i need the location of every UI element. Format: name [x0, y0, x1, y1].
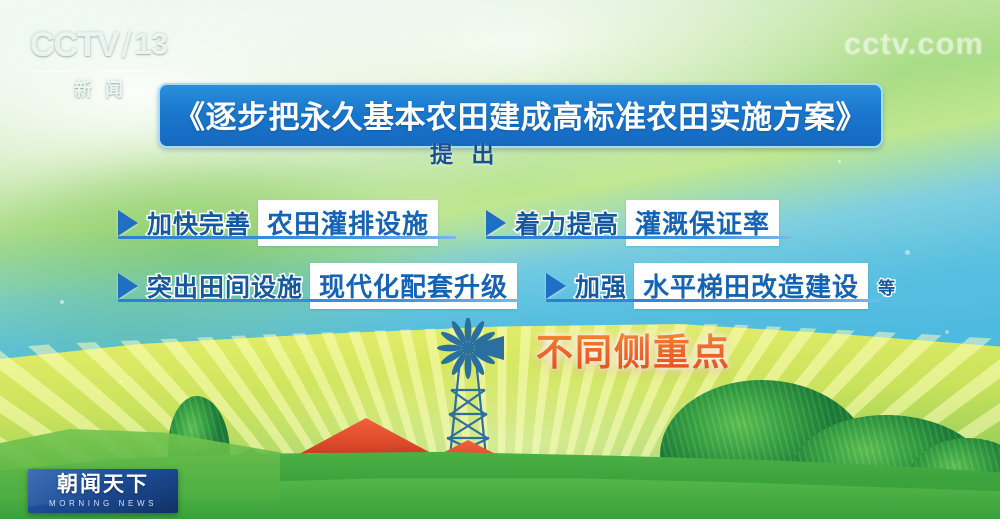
program-name-cn: 朝闻天下	[57, 474, 149, 495]
broadcast-frame: CCTV / 13 新闻 cctv.com 《逐步把永久基本农田建成高标准农田实…	[0, 0, 1000, 519]
triangle-right-icon	[118, 273, 138, 299]
program-name-en: MORNING NEWS	[49, 499, 157, 508]
bullet-chip: 水平梯田改造建设	[634, 263, 868, 309]
bullet-chip: 灌溉保证率	[626, 200, 779, 246]
headline-subtitle: 提 出	[430, 135, 500, 169]
highlight-text: 不同侧重点	[536, 322, 731, 376]
bullet-suffix: 等	[878, 274, 895, 299]
program-bug: 朝闻天下 MORNING NEWS	[28, 469, 178, 513]
bullet-underline	[486, 236, 791, 239]
channel-name: CCTV	[30, 28, 119, 62]
bullet-row: 着力提高 灌溉保证率	[486, 200, 779, 246]
bullet-chip: 现代化配套升级	[310, 263, 517, 309]
watermark: cctv.com	[844, 26, 984, 62]
bullet-underline	[546, 299, 880, 302]
channel-logo: CCTV / 13 新闻	[30, 24, 168, 102]
triangle-right-icon	[546, 273, 566, 299]
bullet-row: 突出田间设施 现代化配套升级	[118, 263, 517, 309]
bullet-chip: 农田灌排设施	[258, 200, 438, 246]
channel-subtitle: 新闻	[30, 71, 168, 102]
triangle-right-icon	[486, 210, 506, 236]
bullet-row: 加快完善 农田灌排设施	[118, 200, 438, 246]
bullet-underline	[118, 236, 456, 239]
bullet-row: 加强 水平梯田改造建设 等	[546, 263, 895, 309]
bullet-underline	[118, 299, 522, 302]
channel-slash-icon: /	[122, 24, 132, 66]
triangle-right-icon	[118, 210, 138, 236]
channel-number: 13	[135, 30, 168, 60]
page-title: 《逐步把永久基本农田建成高标准农田实施方案》	[158, 83, 883, 148]
